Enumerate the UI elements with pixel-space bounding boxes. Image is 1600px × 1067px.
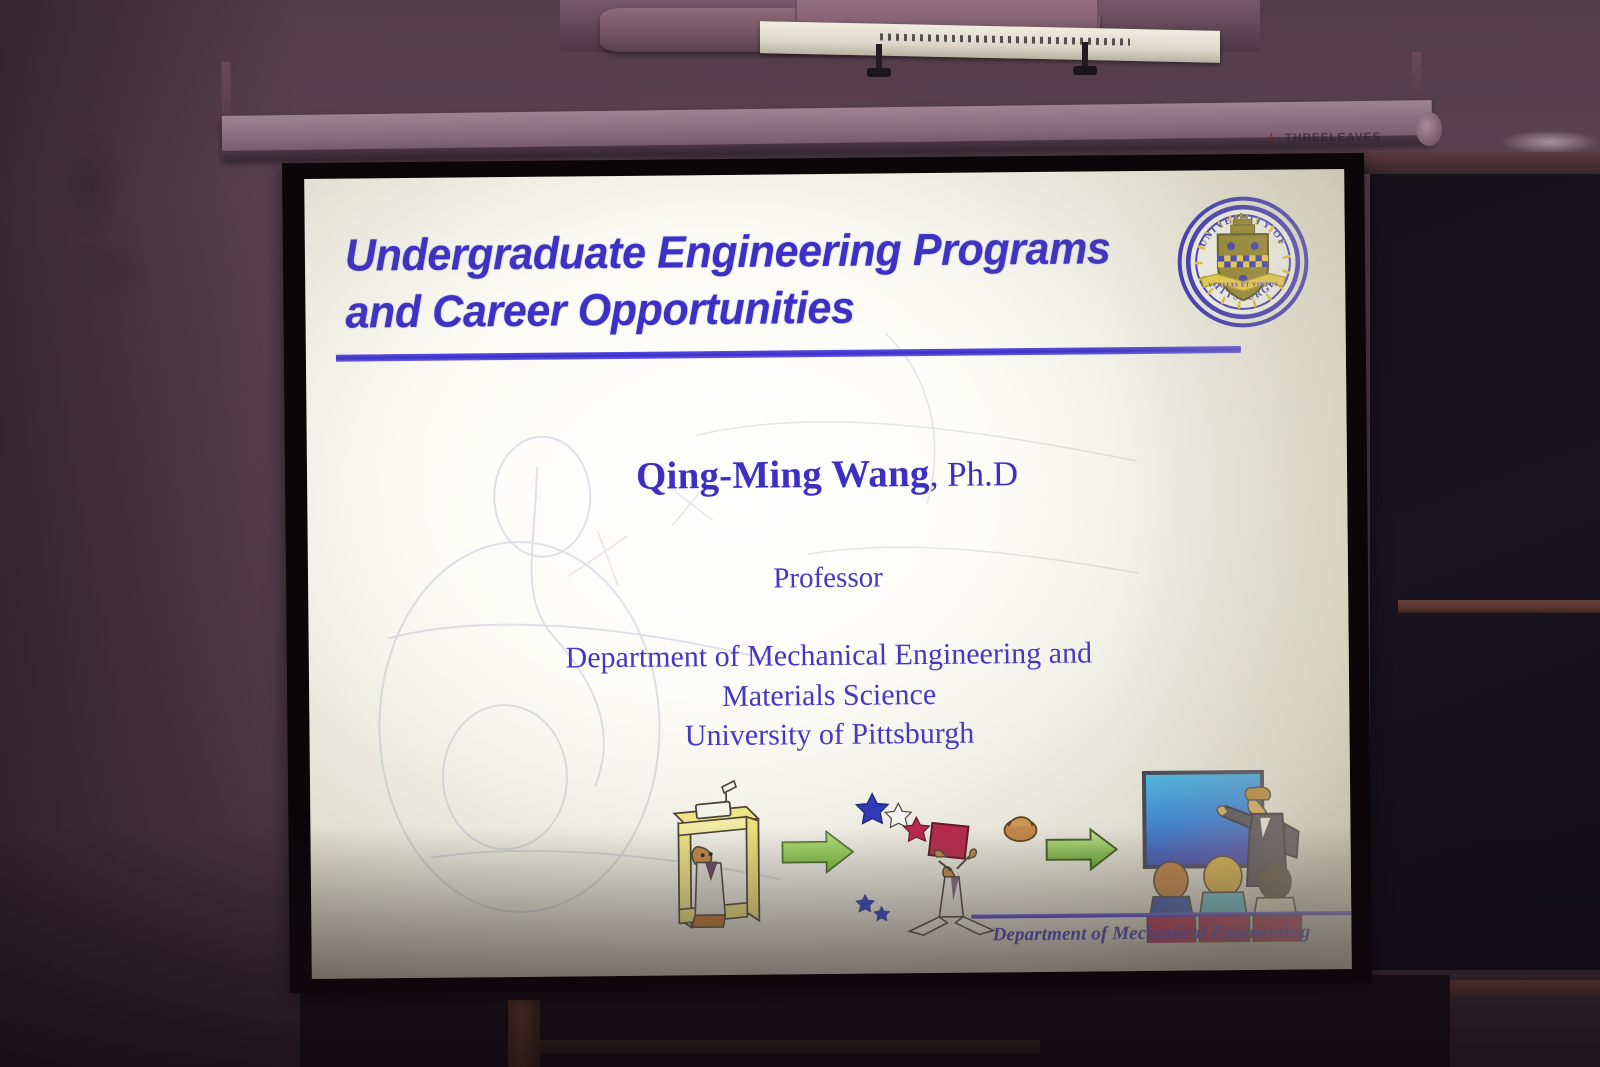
blackboard-top-trim <box>1355 152 1600 174</box>
wall-smudge-secondary <box>60 240 150 300</box>
mount-bolt-left <box>876 44 882 70</box>
screen-brand-text: THREELEAVES <box>1285 131 1381 144</box>
university-seal-icon: UNIVERSITY OF PITTSBURGH <box>1176 195 1309 328</box>
presenter-role: Professor <box>308 557 1348 600</box>
page-title: Undergraduate Engineering Programs and C… <box>345 218 1206 341</box>
wall-highlight <box>1500 130 1600 154</box>
classroom-photo-scene: THREELEAVES <box>0 0 1600 1067</box>
three-leaves-logo-icon <box>1265 132 1278 145</box>
mount-bolt-right <box>1082 42 1088 68</box>
blackboard-chalk-rail <box>1398 600 1600 613</box>
presenter-line: Qing-Ming Wang, Ph.D <box>307 447 1347 502</box>
presenter-name: Qing-Ming Wang <box>636 452 930 498</box>
screen-brand-label: THREELEAVES <box>1265 130 1381 145</box>
slide-title-block: Undergraduate Engineering Programs and C… <box>345 218 1246 341</box>
title-divider-rule <box>336 346 1241 362</box>
wall-smudge <box>55 130 125 240</box>
wall-bottom-shadow <box>0 827 1600 1067</box>
svg-text:VERITAS ET VIRTUS: VERITAS ET VIRTUS <box>1208 282 1278 289</box>
presenter-affiliation: Department of Mechanical Engineering and… <box>309 631 1350 760</box>
presenter-degree: , Ph.D <box>929 454 1018 494</box>
casing-end-cap <box>1416 112 1442 146</box>
